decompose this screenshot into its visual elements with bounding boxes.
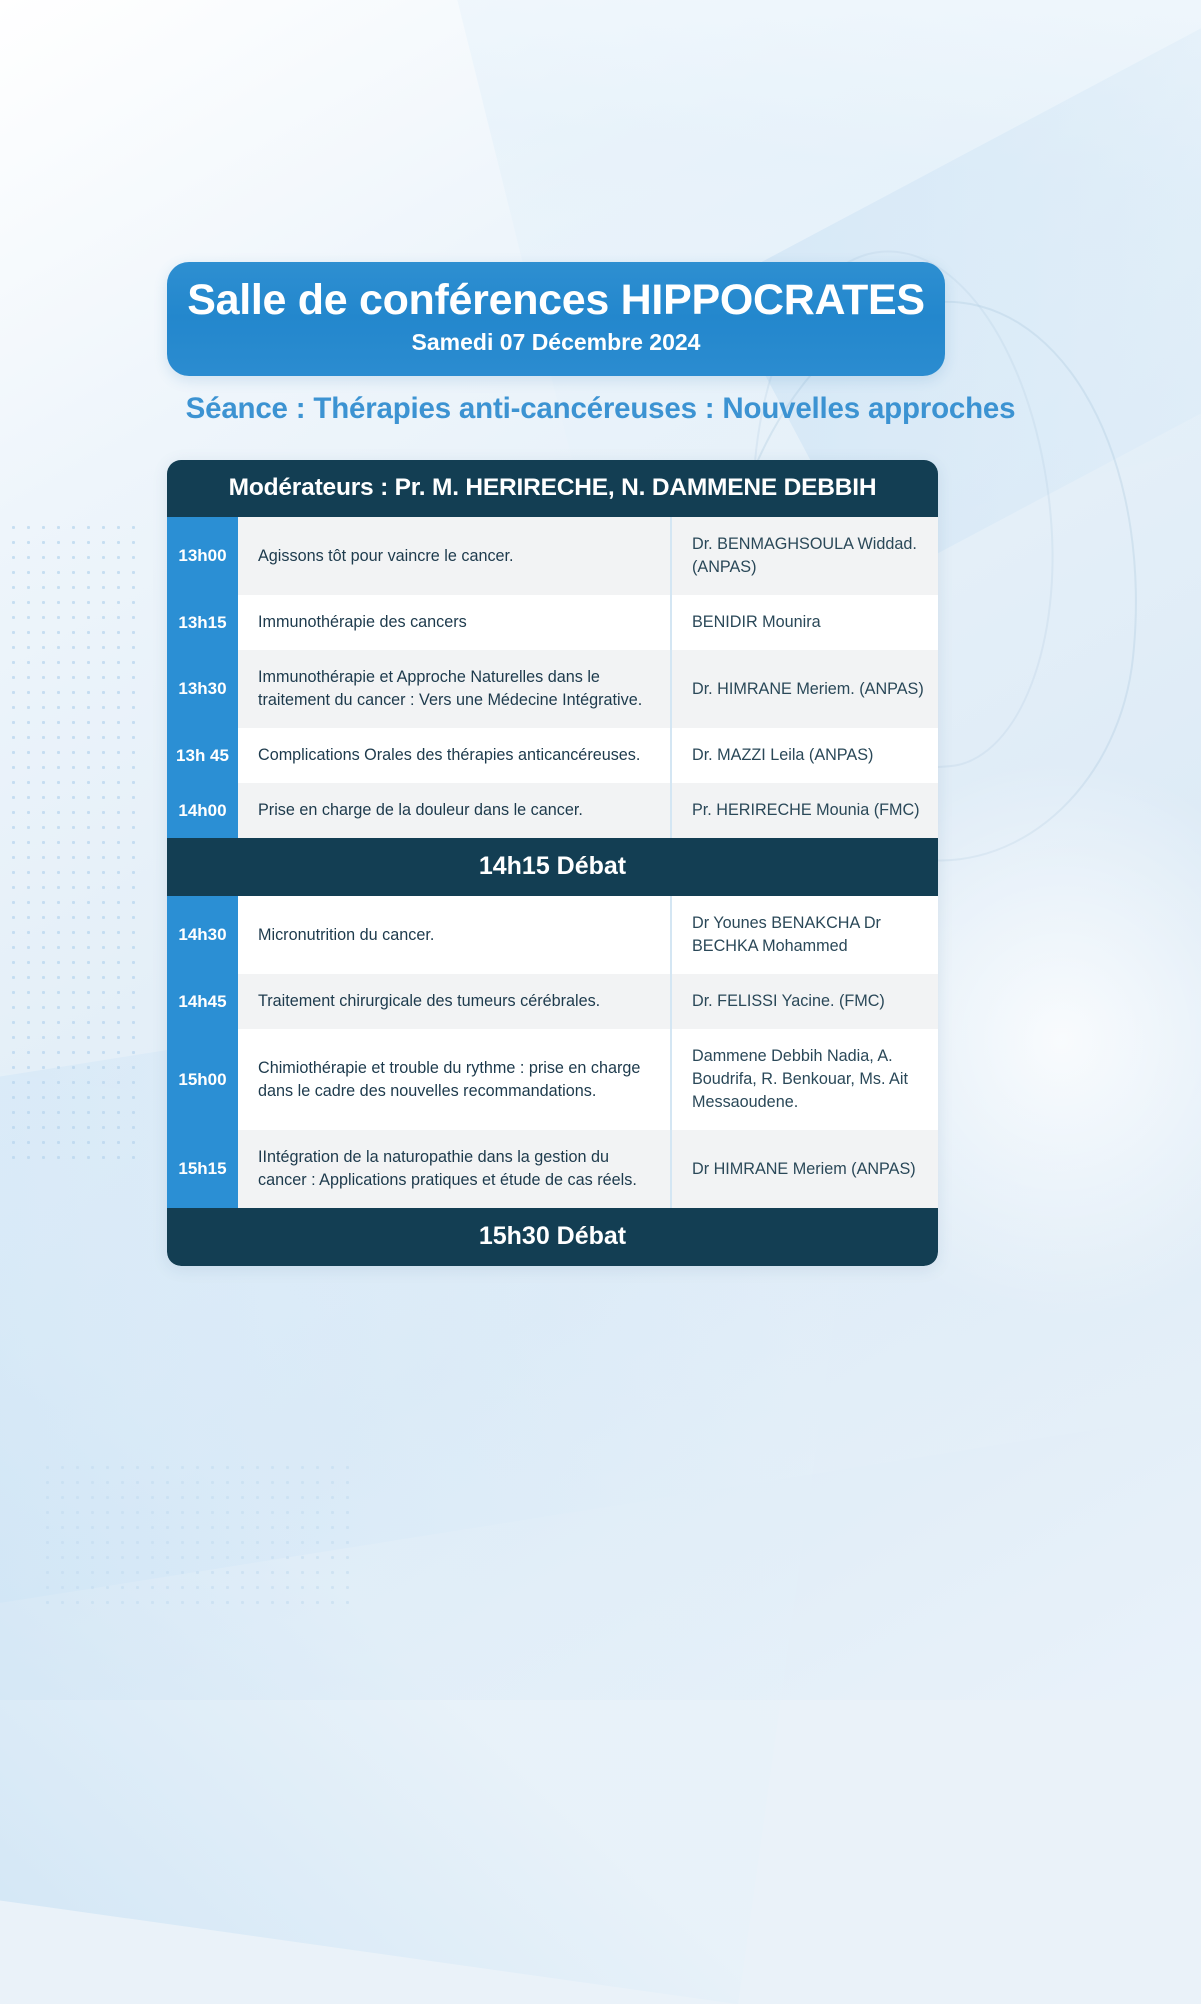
background-dot-pattern-bottom: [40, 1460, 360, 1610]
row-speaker: Dr. HIMRANE Meriem. (ANPAS): [672, 650, 938, 728]
schedule-rows-part-two: 14h30 Micronutrition du cancer. Dr Youne…: [167, 896, 938, 1208]
row-time: 14h00: [167, 783, 238, 838]
row-topic: Immunothérapie et Approche Naturelles da…: [238, 650, 672, 728]
moderators-header: Modérateurs : Pr. M. HERIRECHE, N. DAMME…: [167, 460, 938, 517]
table-row: 14h30 Micronutrition du cancer. Dr Youne…: [167, 896, 938, 974]
table-row: 13h 45 Complications Orales des thérapie…: [167, 728, 938, 783]
page-title: Salle de conférences HIPPOCRATES: [187, 278, 925, 323]
table-row: 15h00 Chimiothérapie et trouble du rythm…: [167, 1029, 938, 1130]
row-speaker: Dammene Debbih Nadia, A. Boudrifa, R. Be…: [672, 1029, 938, 1130]
row-time: 14h30: [167, 896, 238, 974]
page-date: Samedi 07 Décembre 2024: [187, 329, 925, 356]
row-time: 14h45: [167, 974, 238, 1029]
row-speaker: Dr Younes BENAKCHA Dr BECHKA Mohammed: [672, 896, 938, 974]
title-banner: Salle de conférences HIPPOCRATES Samedi …: [167, 262, 945, 376]
session-heading: Séance : Thérapies anti-cancéreuses : No…: [0, 392, 1201, 426]
row-speaker: Dr. FELISSI Yacine. (FMC): [672, 974, 938, 1029]
row-time: 13h00: [167, 517, 238, 595]
debate-bar-first: 14h15 Débat: [167, 838, 938, 896]
debate-bar-second: 15h30 Débat: [167, 1208, 938, 1266]
row-time: 15h15: [167, 1130, 238, 1208]
row-time: 15h00: [167, 1029, 238, 1130]
row-speaker: Dr HIMRANE Meriem (ANPAS): [672, 1130, 938, 1208]
table-row: 14h45 Traitement chirurgicale des tumeur…: [167, 974, 938, 1029]
row-topic: Chimiothérapie et trouble du rythme : pr…: [238, 1029, 672, 1130]
row-speaker: Dr. BENMAGHSOULA Widdad. (ANPAS): [672, 517, 938, 595]
row-time: 13h15: [167, 595, 238, 650]
row-speaker: Dr. MAZZI Leila (ANPAS): [672, 728, 938, 783]
table-row: 15h15 IIntégration de la naturopathie da…: [167, 1130, 938, 1208]
schedule-rows-part-one: 13h00 Agissons tôt pour vaincre le cance…: [167, 517, 938, 838]
table-row: 13h15 Immunothérapie des cancers BENIDIR…: [167, 595, 938, 650]
background-dot-pattern-left: [6, 520, 136, 1160]
row-speaker: BENIDIR Mounira: [672, 595, 938, 650]
row-topic: IIntégration de la naturopathie dans la …: [238, 1130, 672, 1208]
poster-page: Salle de conférences HIPPOCRATES Samedi …: [0, 0, 1201, 1700]
schedule-table: Modérateurs : Pr. M. HERIRECHE, N. DAMME…: [167, 460, 938, 1266]
table-row: 14h00 Prise en charge de la douleur dans…: [167, 783, 938, 838]
row-topic: Immunothérapie des cancers: [238, 595, 672, 650]
table-row: 13h00 Agissons tôt pour vaincre le cance…: [167, 517, 938, 595]
row-topic: Complications Orales des thérapies antic…: [238, 728, 672, 783]
row-speaker: Pr. HERIRECHE Mounia (FMC): [672, 783, 938, 838]
row-time: 13h30: [167, 650, 238, 728]
row-time: 13h 45: [167, 728, 238, 783]
row-topic: Micronutrition du cancer.: [238, 896, 672, 974]
row-topic: Agissons tôt pour vaincre le cancer.: [238, 517, 672, 595]
table-row: 13h30 Immunothérapie et Approche Naturel…: [167, 650, 938, 728]
row-topic: Prise en charge de la douleur dans le ca…: [238, 783, 672, 838]
row-topic: Traitement chirurgicale des tumeurs céré…: [238, 974, 672, 1029]
